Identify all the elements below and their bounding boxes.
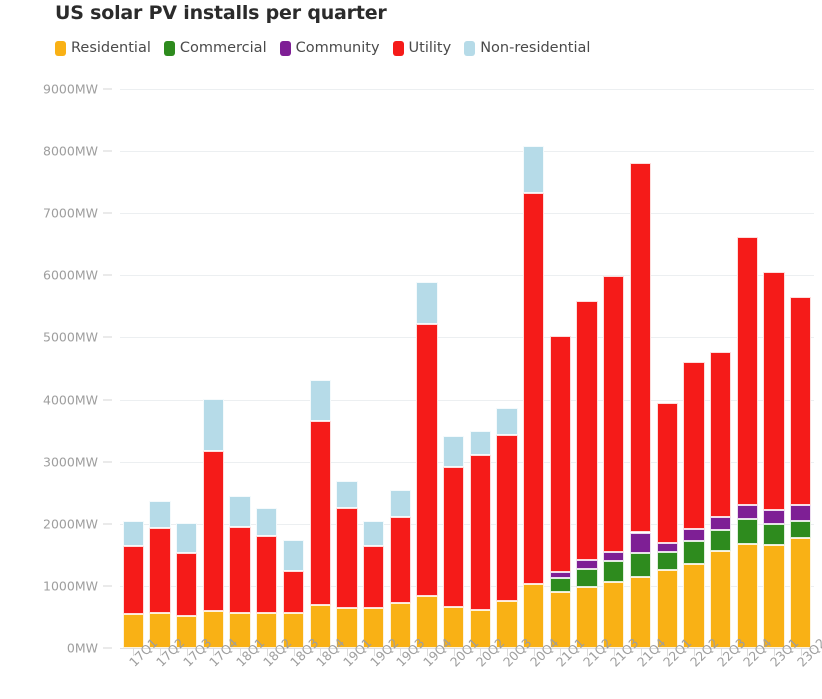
y-axis-tick-label: 2000MW [43, 516, 98, 531]
bar-segment-utility[interactable] [336, 508, 357, 608]
bar-group[interactable] [390, 89, 411, 648]
bar-segment-utility[interactable] [203, 451, 224, 611]
page-title: US solar PV installs per quarter [55, 2, 387, 24]
bar-segment-residential[interactable] [737, 544, 758, 648]
solar-pv-chart: US solar PV installs per quarter Residen… [0, 0, 822, 699]
bar-segment-utility[interactable] [123, 546, 144, 614]
bar-segment-utility[interactable] [256, 536, 277, 614]
bar-segment-non-residential[interactable] [310, 380, 331, 420]
bar-group[interactable] [550, 89, 571, 648]
bar-group[interactable] [149, 89, 170, 648]
bar-segment-utility[interactable] [710, 352, 731, 517]
y-axis-tick-mark [103, 89, 112, 90]
bar-group[interactable] [256, 89, 277, 648]
bar-segment-utility[interactable] [176, 553, 197, 616]
bar-group[interactable] [683, 89, 704, 648]
bar-group[interactable] [576, 89, 597, 648]
bar-segment-commercial[interactable] [737, 519, 758, 544]
bar-segment-utility[interactable] [310, 421, 331, 605]
bar-group[interactable] [310, 89, 331, 648]
bar-segment-utility[interactable] [523, 193, 544, 584]
bar-group[interactable] [710, 89, 731, 648]
bar-group[interactable] [737, 89, 758, 648]
bar-segment-utility[interactable] [496, 435, 517, 601]
bar-segment-commercial[interactable] [550, 578, 571, 592]
bar-segment-commercial[interactable] [683, 541, 704, 565]
bar-segment-commercial[interactable] [790, 521, 811, 538]
bar-segment-utility[interactable] [416, 324, 437, 596]
bar-segment-utility[interactable] [363, 546, 384, 608]
y-axis-tick-label: 0MW [67, 641, 98, 656]
legend-item-label: Residential [71, 40, 151, 56]
bar-segment-utility[interactable] [576, 301, 597, 560]
bar-group[interactable] [363, 89, 384, 648]
bar-segment-commercial[interactable] [603, 561, 624, 581]
y-axis-tick-mark [103, 585, 112, 586]
bar-segment-commercial[interactable] [710, 530, 731, 551]
bar-segment-non-residential[interactable] [443, 436, 464, 468]
bar-segment-residential[interactable] [790, 538, 811, 648]
bar-segment-community[interactable] [576, 560, 597, 568]
y-axis-tick-mark [103, 213, 112, 214]
x-axis: 17Q117Q217Q317Q418Q118Q218Q318Q419Q119Q2… [120, 648, 814, 699]
bar-segment-non-residential[interactable] [363, 521, 384, 546]
bar-segment-utility[interactable] [283, 571, 304, 613]
legend-item[interactable]: Community [280, 40, 380, 56]
bar-segment-utility[interactable] [683, 362, 704, 530]
bar-segment-non-residential[interactable] [149, 501, 170, 527]
legend-item[interactable]: Residential [55, 40, 151, 56]
legend-swatch-residential [55, 41, 66, 56]
y-axis-tick-mark [103, 151, 112, 152]
y-axis-tick-mark [103, 523, 112, 524]
bar-segment-community[interactable] [790, 505, 811, 521]
bar-segment-commercial[interactable] [576, 569, 597, 588]
bar-segment-non-residential[interactable] [470, 431, 491, 455]
bar-segment-community[interactable] [710, 517, 731, 530]
bar-segment-non-residential[interactable] [336, 481, 357, 508]
bar-segment-non-residential[interactable] [229, 496, 250, 527]
bar-group[interactable] [203, 89, 224, 648]
bar-group[interactable] [496, 89, 517, 648]
bar-segment-residential[interactable] [683, 564, 704, 648]
bar-group[interactable] [630, 89, 651, 648]
y-axis-tick-label: 3000MW [43, 454, 98, 469]
legend-swatch-commercial [164, 41, 175, 56]
bar-segment-utility[interactable] [149, 528, 170, 613]
bar-segment-non-residential[interactable] [496, 408, 517, 435]
bar-segment-utility[interactable] [229, 527, 250, 613]
bar-segment-community[interactable] [763, 510, 784, 524]
bar-segment-utility[interactable] [790, 297, 811, 505]
bar-segment-utility[interactable] [390, 517, 411, 603]
y-axis-tick-label: 6000MW [43, 268, 98, 283]
y-axis-tick-label: 5000MW [43, 330, 98, 345]
y-axis-tick-mark [103, 275, 112, 276]
plot-area [120, 89, 814, 648]
bar-group[interactable] [416, 89, 437, 648]
bar-group[interactable] [336, 89, 357, 648]
legend-item-label: Utility [409, 40, 452, 56]
legend-item[interactable]: Non-residential [464, 40, 590, 56]
y-axis-tick-label: 1000MW [43, 578, 98, 593]
bar-segment-utility[interactable] [443, 467, 464, 607]
bar-segment-utility[interactable] [603, 276, 624, 552]
bar-group[interactable] [763, 89, 784, 648]
bar-group[interactable] [229, 89, 250, 648]
bar-group[interactable] [657, 89, 678, 648]
bar-segment-non-residential[interactable] [416, 282, 437, 325]
legend-item-label: Commercial [180, 40, 267, 56]
legend-item[interactable]: Utility [393, 40, 452, 56]
bar-group[interactable] [123, 89, 144, 648]
bar-group[interactable] [443, 89, 464, 648]
bar-segment-utility[interactable] [470, 455, 491, 610]
legend-item-label: Community [296, 40, 380, 56]
bar-segment-utility[interactable] [550, 336, 571, 573]
bar-segment-community[interactable] [550, 572, 571, 578]
y-axis-tick-label: 4000MW [43, 392, 98, 407]
bar-group[interactable] [176, 89, 197, 648]
bar-segment-commercial[interactable] [763, 524, 784, 545]
bar-segment-non-residential[interactable] [256, 508, 277, 536]
bar-segment-commercial[interactable] [657, 552, 678, 570]
bar-segment-utility[interactable] [657, 403, 678, 543]
bar-segment-non-residential[interactable] [523, 146, 544, 194]
bar-segment-community[interactable] [737, 505, 758, 519]
y-axis-tick-mark [103, 461, 112, 462]
bar-segment-community[interactable] [657, 543, 678, 552]
bar-group[interactable] [470, 89, 491, 648]
legend-swatch-non-residential [464, 41, 475, 56]
legend-item[interactable]: Commercial [164, 40, 267, 56]
bar-segment-non-residential[interactable] [390, 490, 411, 517]
bar-segment-commercial[interactable] [630, 553, 651, 577]
bar-segment-utility[interactable] [630, 163, 651, 533]
bar-segment-community[interactable] [603, 552, 624, 561]
y-axis-tick-label: 8000MW [43, 144, 98, 159]
bar-group[interactable] [523, 89, 544, 648]
bar-segment-non-residential[interactable] [203, 399, 224, 451]
bar-segment-residential[interactable] [710, 551, 731, 648]
y-axis-tick-mark [103, 337, 112, 338]
legend-item-label: Non-residential [480, 40, 590, 56]
bar-segment-residential[interactable] [763, 545, 784, 648]
bar-segment-non-residential[interactable] [123, 521, 144, 546]
y-axis-tick-mark [103, 399, 112, 400]
bar-segment-non-residential[interactable] [283, 540, 304, 571]
bar-group[interactable] [790, 89, 811, 648]
y-axis-tick-mark [103, 648, 112, 649]
bar-segment-community[interactable] [683, 529, 704, 540]
legend-swatch-community [280, 41, 291, 56]
bar-segment-utility[interactable] [763, 272, 784, 510]
y-axis: 0MW1000MW2000MW3000MW4000MW5000MW6000MW7… [0, 89, 120, 648]
bar-group[interactable] [603, 89, 624, 648]
bar-segment-utility[interactable] [737, 237, 758, 505]
bar-group[interactable] [283, 89, 304, 648]
chart-legend: ResidentialCommercialCommunityUtilityNon… [55, 40, 590, 56]
y-axis-tick-label: 9000MW [43, 82, 98, 97]
legend-swatch-utility [393, 41, 404, 56]
bar-segment-community[interactable] [630, 533, 651, 553]
bar-segment-non-residential[interactable] [176, 523, 197, 553]
y-axis-tick-label: 7000MW [43, 206, 98, 221]
